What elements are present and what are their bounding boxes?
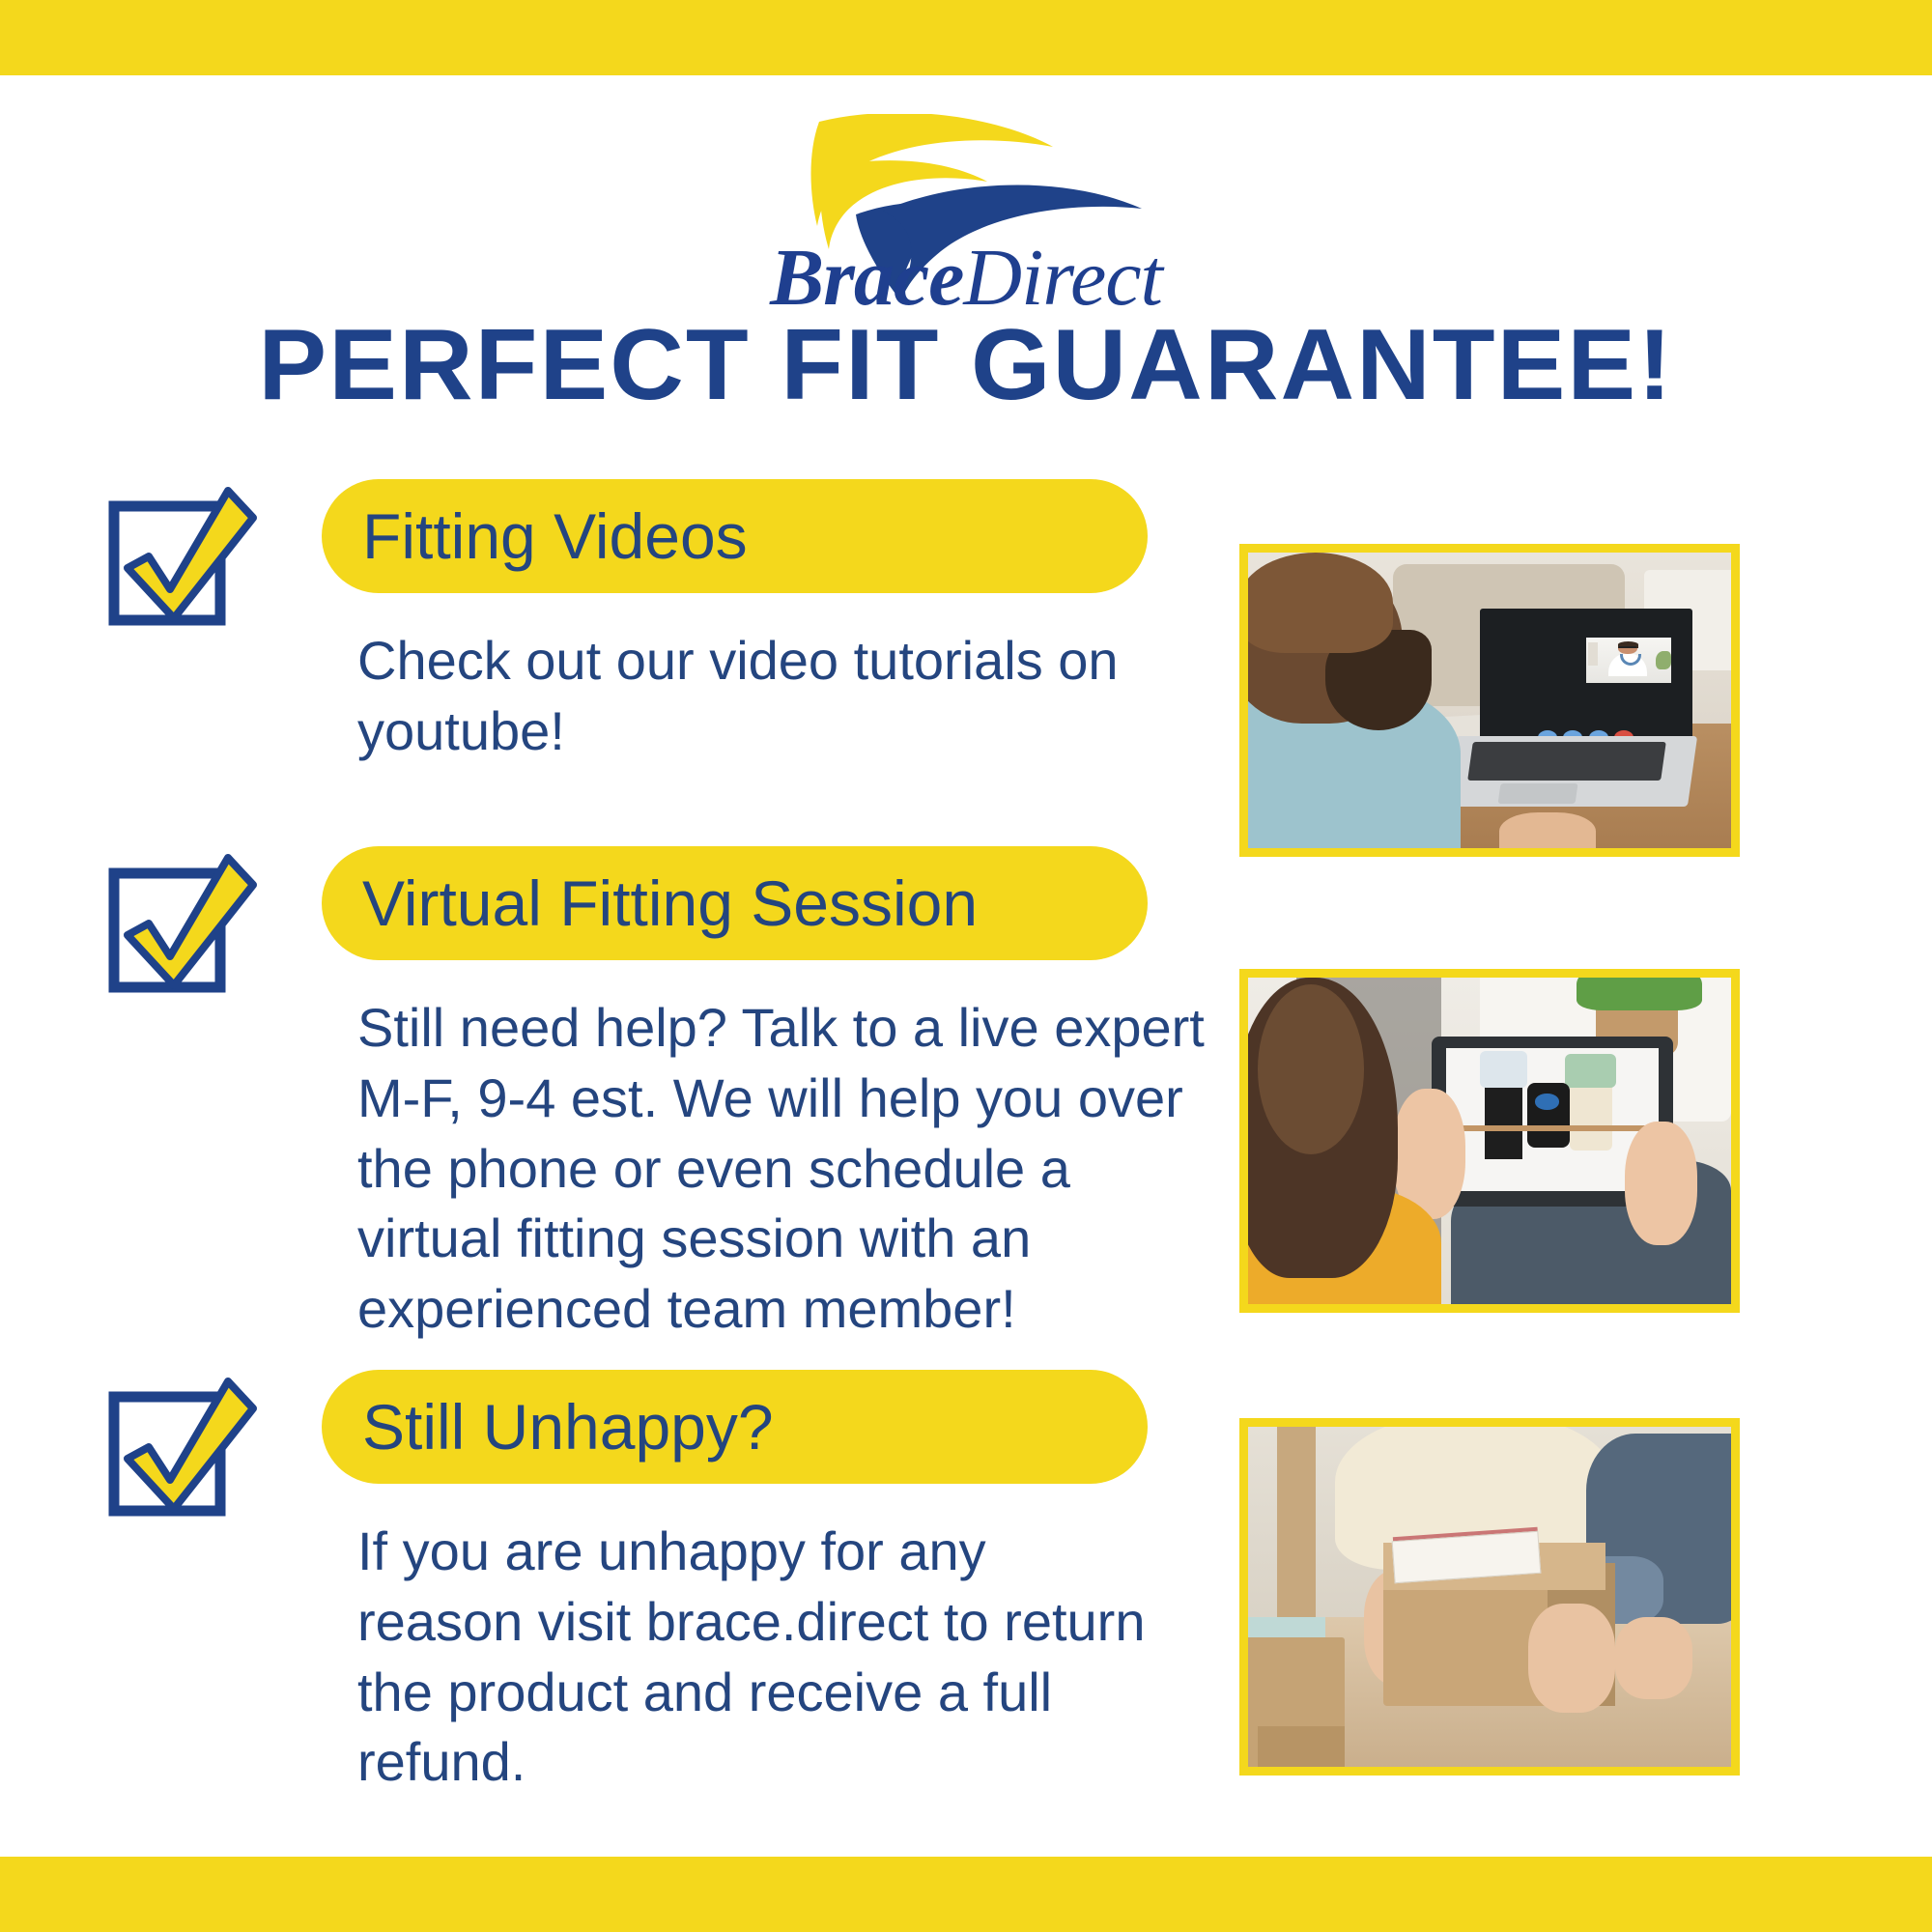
- photo-scene: [1248, 553, 1731, 848]
- section-pill-label: Still Unhappy?: [322, 1395, 774, 1459]
- section-pill-fitting-videos[interactable]: Fitting Videos: [322, 479, 1148, 593]
- photo-scene: [1248, 1427, 1731, 1767]
- brand-wordmark-light: Direct: [963, 233, 1161, 323]
- bottom-yellow-band: [0, 1857, 1932, 1932]
- checkbox-checked-icon: [106, 852, 261, 997]
- photo-scene: [1248, 978, 1731, 1304]
- photo-virtual-fitting-session: [1239, 969, 1740, 1313]
- section-pill-label: Fitting Videos: [322, 504, 748, 568]
- page-title: PERFECT FIT GUARANTEE!: [0, 315, 1932, 415]
- section-body-fitting-videos: Check out our video tutorials on youtube…: [357, 626, 1121, 767]
- section-pill-still-unhappy[interactable]: Still Unhappy?: [322, 1370, 1148, 1484]
- section-pill-virtual-fitting-session[interactable]: Virtual Fitting Session: [322, 846, 1148, 960]
- photo-still-unhappy: [1239, 1418, 1740, 1776]
- checkbox-checked-icon: [106, 485, 261, 630]
- brand-logo: BraceDirect: [0, 114, 1932, 319]
- section-body-still-unhappy: If you are unhappy for any reason visit …: [357, 1517, 1150, 1798]
- brand-wordmark: BraceDirect: [667, 238, 1265, 319]
- section-pill-label: Virtual Fitting Session: [322, 871, 978, 935]
- section-body-virtual-fitting-session: Still need help? Talk to a live expert M…: [357, 993, 1207, 1345]
- photo-fitting-videos: [1239, 544, 1740, 857]
- checkbox-checked-icon: [106, 1376, 261, 1520]
- top-yellow-band: [0, 0, 1932, 75]
- brand-wordmark-bold: Brace: [770, 233, 963, 323]
